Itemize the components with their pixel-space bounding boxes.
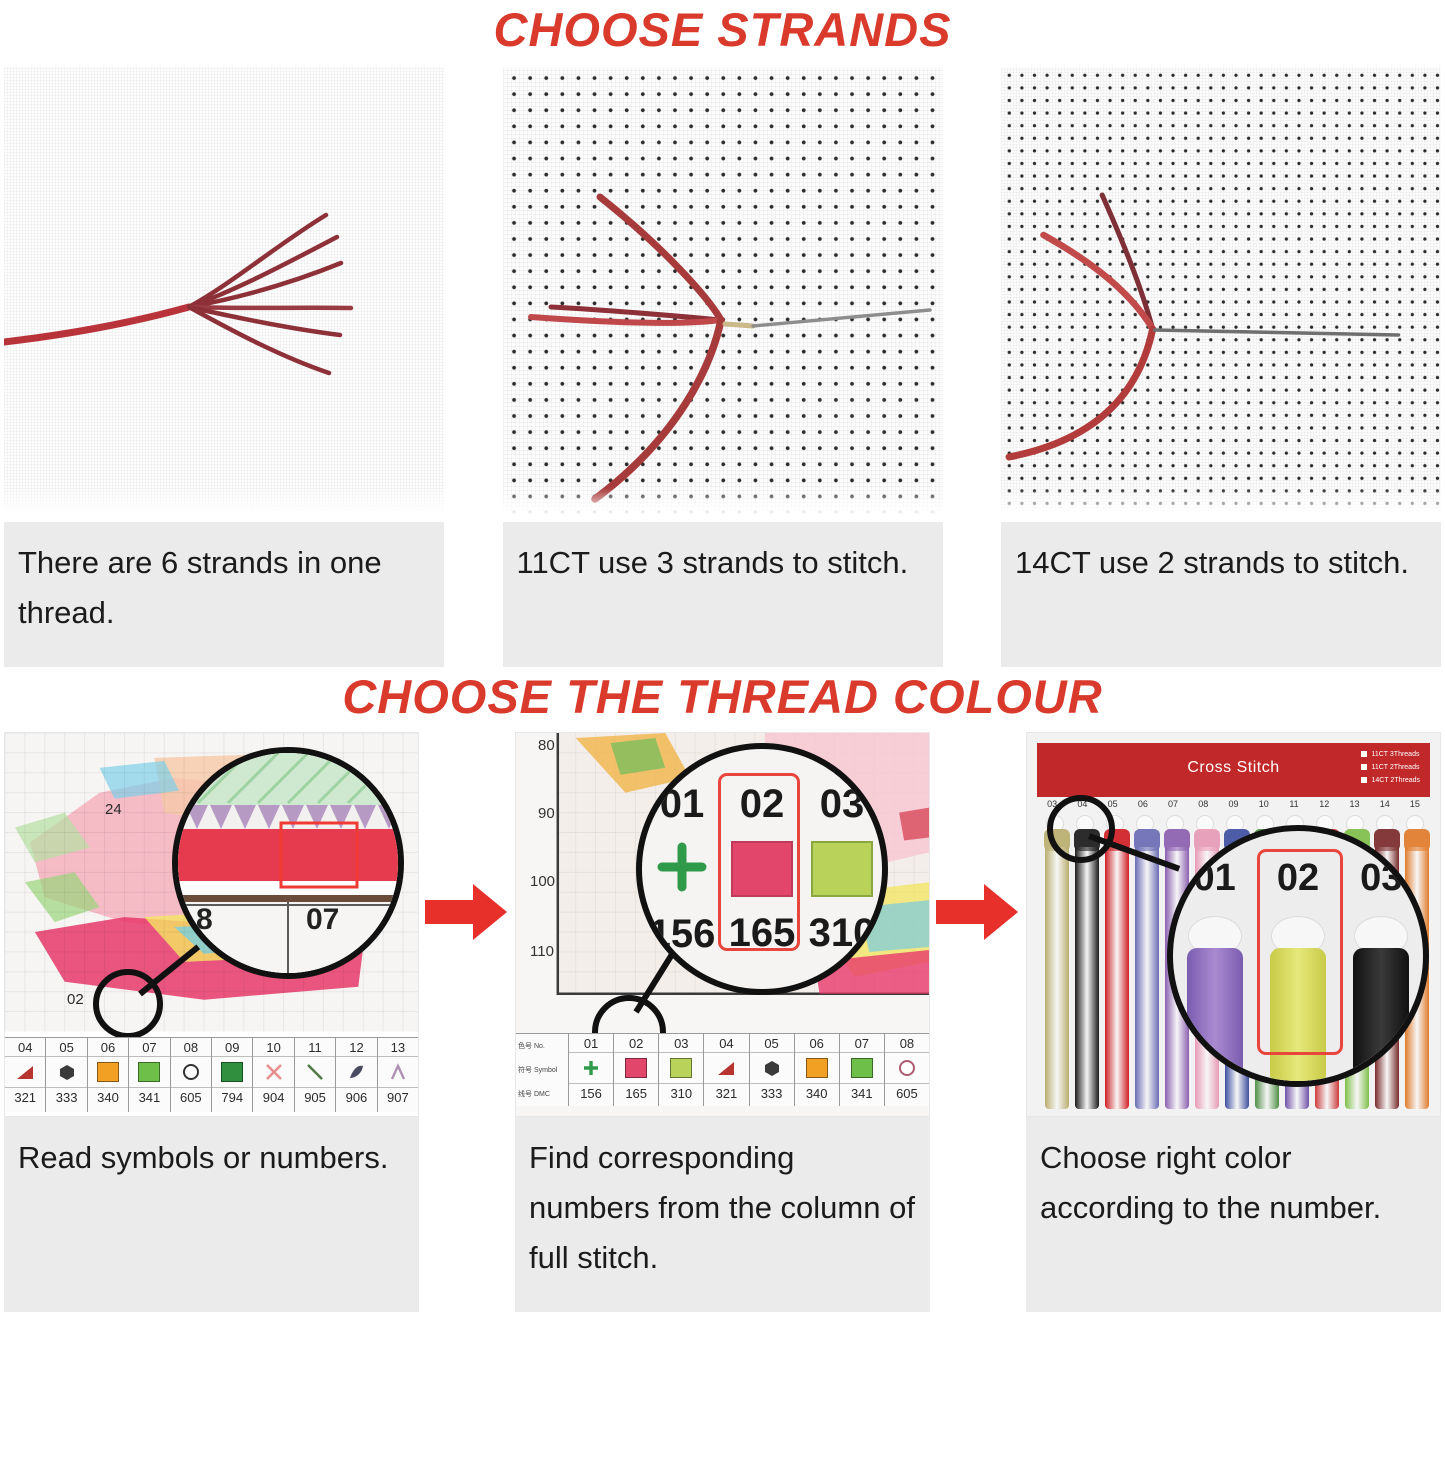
- legend-symbol-open-circle: [885, 1053, 929, 1084]
- legend-number: 13: [378, 1038, 418, 1057]
- magnified-number: 01: [660, 782, 705, 827]
- legend-dmc: 333: [46, 1088, 86, 1108]
- legend-number: 02: [614, 1034, 658, 1053]
- magnified-skein-number: 01: [1194, 857, 1236, 900]
- legend-number: 06: [795, 1034, 839, 1053]
- magnifier-bubble-chart: 8 07: [172, 747, 404, 979]
- cross-stitch-thread-card: Cross Stitch 11CT 3Threads 11CT 2Threads…: [1027, 733, 1440, 1116]
- photo-thread-card: Cross Stitch 11CT 3Threads 11CT 2Threads…: [1026, 732, 1441, 1117]
- skein-number: 06: [1128, 799, 1158, 815]
- skein[interactable]: [1135, 847, 1159, 1109]
- arrow-right-icon: [425, 882, 509, 942]
- legend-dmc: 341: [840, 1084, 884, 1104]
- legend-number: 10: [253, 1038, 293, 1057]
- panel-find-numbers: 80 90 100 110 01 156 02: [515, 732, 930, 1312]
- magnified-cell-right: 07: [306, 903, 339, 937]
- skein-number: 11: [1279, 799, 1309, 815]
- chart-axis-100: 100: [530, 873, 555, 890]
- option-11ct-2threads: 11CT 2Threads: [1361, 762, 1420, 775]
- legend-number: 07: [840, 1034, 884, 1053]
- legend-dmc: 321: [5, 1088, 45, 1108]
- legend-symbol-hexagon: [750, 1053, 794, 1084]
- legend-column[interactable]: 01 156: [569, 1034, 614, 1106]
- photo-six-strands: [4, 67, 444, 522]
- legend-row-labels: 色号 No. 符号 Symbol 线号 DMC: [516, 1034, 569, 1106]
- legend-number: 08: [171, 1038, 211, 1057]
- magnified-dmc: 310: [809, 911, 876, 956]
- legend-symbol-green-square: [129, 1057, 169, 1088]
- legend-column[interactable]: 04 321: [704, 1034, 749, 1106]
- legend-number: 04: [704, 1034, 748, 1053]
- option-14ct-2threads: 14CT 2Threads: [1361, 775, 1420, 788]
- skein-number: 07: [1158, 799, 1188, 815]
- legend-column[interactable]: 10 904: [253, 1038, 294, 1112]
- legend-symbol-green-square: [840, 1053, 884, 1084]
- panel-read-symbols: 24 02: [4, 732, 419, 1312]
- legend-column[interactable]: 07 341: [840, 1034, 885, 1106]
- chart-label-24: 24: [105, 801, 122, 818]
- legend-number: 12: [336, 1038, 376, 1057]
- legend-symbol-pink-square: [614, 1053, 658, 1084]
- legend-number: 06: [88, 1038, 128, 1057]
- magnifier-highlight-box: [1257, 849, 1343, 1055]
- skein-number: 13: [1339, 799, 1369, 815]
- legend-strip-numbers: 色号 No. 符号 Symbol 线号 DMC 01 156 02: [516, 1033, 929, 1106]
- legend-dmc: 906: [336, 1088, 376, 1108]
- arrow-step-2-to-3: [931, 882, 1026, 942]
- skein[interactable]: [1075, 847, 1099, 1109]
- magnified-skein: [1353, 948, 1409, 1081]
- legend-number: 05: [46, 1038, 86, 1057]
- legend-symbol-diagonal-line: [295, 1057, 335, 1088]
- chart-axis-90: 90: [538, 805, 555, 822]
- legend-column[interactable]: 11 905: [295, 1038, 336, 1112]
- magnified-skein-column[interactable]: 03: [1340, 831, 1423, 1081]
- legend-symbol-lambda: [378, 1057, 418, 1088]
- thread-two-strands-illustration: [1001, 67, 1441, 522]
- photo-14ct-aida: [1001, 67, 1441, 522]
- skein[interactable]: [1105, 847, 1129, 1109]
- legend-symbol-leaf: [336, 1057, 376, 1088]
- legend-dmc: 321: [704, 1084, 748, 1104]
- thread-card-header: Cross Stitch 11CT 3Threads 11CT 2Threads…: [1037, 743, 1430, 797]
- legend-column[interactable]: 09 794: [212, 1038, 253, 1112]
- legend-column[interactable]: 02 165: [614, 1034, 659, 1106]
- thread-three-strands-illustration: [503, 67, 943, 522]
- legend-strip-symbols: 04 321 05 333 06: [5, 1037, 418, 1112]
- thread-six-strands-illustration: [4, 67, 444, 522]
- colour-panel-row: 24 02: [0, 732, 1445, 1312]
- legend-symbol-hexagon: [46, 1057, 86, 1088]
- magnified-skein-column[interactable]: 01: [1173, 831, 1256, 1081]
- caption-find-numbers: Find corresponding numbers from the colu…: [515, 1117, 930, 1312]
- fabric-fade: [503, 488, 943, 522]
- legend-column[interactable]: 06 340: [795, 1034, 840, 1106]
- magnified-legend-column[interactable]: 01 156: [642, 749, 722, 989]
- legend-column[interactable]: 08 605: [885, 1034, 929, 1106]
- panel-11ct-three-strands: 11CT use 3 strands to stitch.: [503, 67, 943, 667]
- page-title-choose-colour: CHOOSE THE THREAD COLOUR: [0, 667, 1445, 720]
- magnified-skein: [1187, 948, 1243, 1081]
- legend-dmc: 340: [88, 1088, 128, 1108]
- legend-dmc: 794: [212, 1088, 252, 1108]
- magnifier-bubble-legend: 01 156 02 165 03 310: [636, 743, 888, 995]
- legend-number: 04: [5, 1038, 45, 1057]
- photo-11ct-aida: [503, 67, 943, 522]
- legend-dmc: 605: [171, 1088, 211, 1108]
- legend-symbol-cross: [569, 1053, 613, 1084]
- legend-dmc: 904: [253, 1088, 293, 1108]
- legend-symbol-triangle: [704, 1053, 748, 1084]
- thread-card-options: 11CT 3Threads 11CT 2Threads 14CT 2Thread…: [1361, 749, 1420, 788]
- skein-number: 15: [1400, 799, 1430, 815]
- chart-label-02: 02: [67, 991, 84, 1008]
- legend-column[interactable]: 06 340: [88, 1038, 129, 1112]
- legend-number: 09: [212, 1038, 252, 1057]
- legend-symbol-orange-square: [88, 1057, 128, 1088]
- panel-six-strands: There are 6 strands in one thread.: [4, 67, 444, 667]
- magnifier-bubble-skeins: 01 02 03: [1167, 825, 1429, 1087]
- legend-symbol-lime-square: [659, 1053, 703, 1084]
- legend-row-label-symbol: 符号 Symbol: [516, 1058, 568, 1082]
- fabric-fade: [4, 488, 444, 522]
- skein-number: 09: [1218, 799, 1248, 815]
- legend-dmc: 907: [378, 1088, 418, 1108]
- magnified-cell-left: 8: [196, 903, 213, 937]
- option-11ct-3threads: 11CT 3Threads: [1361, 749, 1420, 762]
- magnified-skein-number: 03: [1360, 857, 1402, 900]
- legend-column[interactable]: 04 321: [5, 1038, 46, 1112]
- skein[interactable]: [1045, 847, 1069, 1109]
- legend-dmc: 333: [750, 1084, 794, 1104]
- legend-dmc: 156: [569, 1084, 613, 1104]
- legend-column[interactable]: 08 605: [171, 1038, 212, 1112]
- legend-column[interactable]: 07 341: [129, 1038, 170, 1112]
- legend-number: 11: [295, 1038, 335, 1057]
- panel-14ct-two-strands: 14CT use 2 strands to stitch.: [1001, 67, 1441, 667]
- legend-symbol-x-cross: [253, 1057, 293, 1088]
- magnified-symbol-lime-square: [811, 841, 873, 897]
- magnified-dmc: 156: [649, 912, 716, 957]
- skein-number: 10: [1249, 799, 1279, 815]
- photo-pattern-chart: 24 02: [4, 732, 419, 1117]
- legend-symbol-orange-square: [795, 1053, 839, 1084]
- legend-symbol-triangle: [5, 1057, 45, 1088]
- legend-number: 01: [569, 1034, 613, 1053]
- chart-axis-80: 80: [538, 737, 555, 754]
- caption-read-symbols: Read symbols or numbers.: [4, 1117, 419, 1312]
- legend-dmc: 310: [659, 1084, 703, 1104]
- chart-axis-110: 110: [530, 943, 554, 960]
- skein-number: 12: [1309, 799, 1339, 815]
- caption-six-strands: There are 6 strands in one thread.: [4, 522, 444, 667]
- legend-column[interactable]: 13 907: [378, 1038, 418, 1112]
- legend-number: 03: [659, 1034, 703, 1053]
- caption-choose-colour: Choose right color according to the numb…: [1026, 1117, 1441, 1312]
- magnifier-highlight-box: [718, 773, 800, 951]
- arrow-right-icon: [936, 882, 1020, 942]
- legend-number: 07: [129, 1038, 169, 1057]
- legend-column[interactable]: 03 310: [659, 1034, 704, 1106]
- strands-panel-row: There are 6 strands in one thread. 11CT …: [0, 67, 1445, 667]
- legend-symbol-open-circle: [171, 1057, 211, 1088]
- skein-number: 14: [1370, 799, 1400, 815]
- magnifier-focus-ring: [1047, 795, 1115, 863]
- page-title-choose-strands: CHOOSE STRANDS: [0, 0, 1445, 53]
- magnified-legend-column[interactable]: 03 310: [802, 749, 882, 989]
- legend-number: 05: [750, 1034, 794, 1053]
- legend-dmc: 340: [795, 1084, 839, 1104]
- arrow-step-1-to-2: [420, 882, 515, 942]
- magnified-chart-detail: [178, 753, 398, 973]
- legend-dmc: 165: [614, 1084, 658, 1104]
- legend-row-label-dmc: 线号 DMC: [516, 1082, 568, 1106]
- legend-dmc: 605: [885, 1084, 929, 1104]
- caption-14ct: 14CT use 2 strands to stitch.: [1001, 522, 1441, 667]
- legend-row-label-no: 色号 No.: [516, 1034, 568, 1058]
- legend-dmc: 905: [295, 1088, 335, 1108]
- legend-column[interactable]: 05 333: [46, 1038, 87, 1112]
- skein-number: 08: [1188, 799, 1218, 815]
- fabric-fade: [1001, 488, 1441, 522]
- photo-numbered-chart: 80 90 100 110 01 156 02: [515, 732, 930, 1117]
- legend-dmc: 341: [129, 1088, 169, 1108]
- legend-symbol-dark-green-square: [212, 1057, 252, 1088]
- legend-number: 08: [885, 1034, 929, 1053]
- panel-choose-colour: Cross Stitch 11CT 3Threads 11CT 2Threads…: [1026, 732, 1441, 1312]
- magnified-symbol-cross: [653, 841, 711, 898]
- magnified-number: 03: [820, 782, 865, 827]
- legend-column[interactable]: 12 906: [336, 1038, 377, 1112]
- legend-column[interactable]: 05 333: [750, 1034, 795, 1106]
- caption-11ct: 11CT use 3 strands to stitch.: [503, 522, 943, 667]
